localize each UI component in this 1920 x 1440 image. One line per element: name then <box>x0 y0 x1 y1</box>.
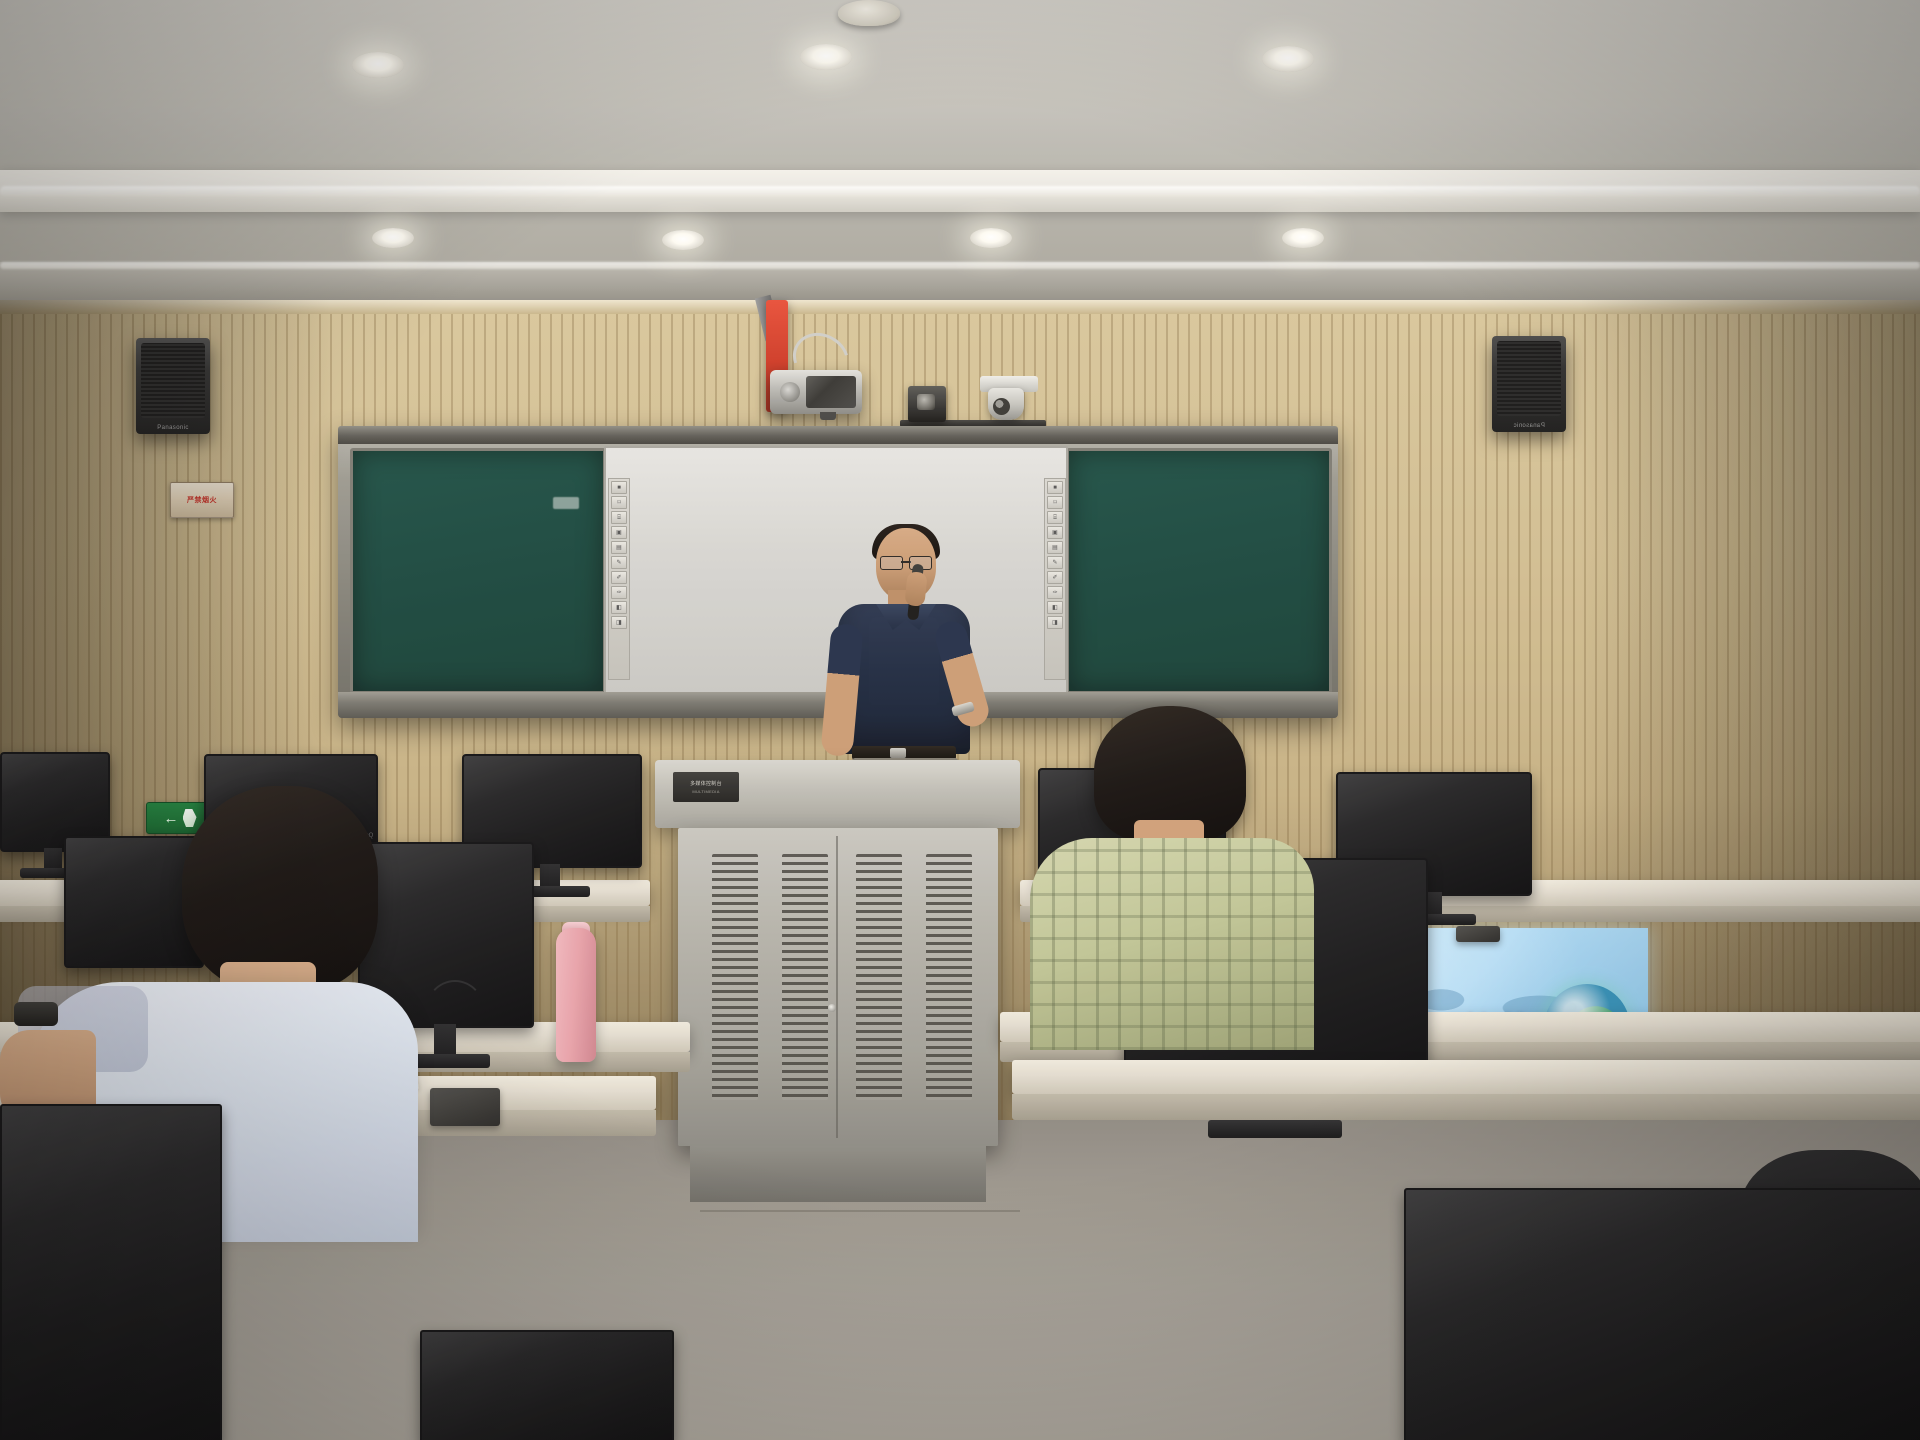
podium-vent <box>712 854 758 1100</box>
whiteboard-tool-button[interactable]: ⌑ <box>611 496 627 509</box>
ptz-dome-camera <box>980 376 1038 424</box>
whiteboard-tool-button[interactable]: ✐ <box>611 571 627 584</box>
podium-door-split <box>836 836 838 1138</box>
podium-cabinet <box>678 828 998 1146</box>
monitor-neck <box>540 864 560 888</box>
whiteboard-tool-button[interactable]: ▣ <box>611 526 627 539</box>
podium-base <box>690 1146 986 1202</box>
chalk-mark <box>553 497 579 509</box>
whiteboard-tool-button[interactable]: ✑ <box>1047 586 1063 599</box>
recessed-downlight <box>372 228 414 248</box>
podium-top: 多媒体控制台 MULTIMEDIA <box>655 760 1020 828</box>
whiteboard-tool-button[interactable]: ◧ <box>611 601 627 614</box>
whiteboard-tool-button[interactable]: ▤ <box>1047 541 1063 554</box>
ceiling <box>0 0 1920 300</box>
ptz-lens-icon <box>993 398 1010 415</box>
whiteboard-tool-button[interactable]: ▣ <box>1047 526 1063 539</box>
whiteboard-tool-button[interactable]: ■ <box>1047 481 1063 494</box>
glasses-icon <box>880 556 932 568</box>
whiteboard-tool-button[interactable]: ■ <box>611 481 627 494</box>
recording-camera <box>908 386 946 422</box>
whiteboard-toolbar-right[interactable]: ■ ⌑ ⌸ ▣ ▤ ✎ ✐ ✑ ◧ ◨ <box>1044 478 1066 680</box>
monitor-screen <box>420 1330 674 1440</box>
recessed-downlight <box>352 52 404 78</box>
student-right <box>1022 706 1322 1036</box>
speaker-grille <box>141 343 205 418</box>
whiteboard-tool-button[interactable]: ⌸ <box>611 511 627 524</box>
podium-vent <box>856 854 902 1100</box>
desk-row-front-right <box>1012 1060 1920 1094</box>
projector-body-detail <box>806 376 856 408</box>
recessed-downlight <box>1282 228 1324 248</box>
monitor-base <box>1208 1120 1342 1138</box>
speaker-brand-label: Panasonic <box>1492 423 1566 429</box>
wristwatch <box>14 1002 58 1026</box>
chalkboard-right <box>1066 448 1332 694</box>
fire-safety-sign: 严禁烟火 <box>170 482 234 518</box>
smartphone-on-desk <box>1456 926 1500 942</box>
recessed-downlight <box>970 228 1012 248</box>
smoke-detector <box>838 0 900 26</box>
cove-light-strip <box>0 186 1920 196</box>
board-top-rail <box>338 426 1338 444</box>
glasses-lens-left <box>880 556 903 570</box>
speaker-brand-label: Panasonic <box>136 425 210 431</box>
recessed-downlight <box>800 44 852 70</box>
belt-buckle <box>890 748 906 758</box>
whiteboard-tool-button[interactable]: ⌸ <box>1047 511 1063 524</box>
monitor-screen <box>0 1104 222 1440</box>
wall-speaker-left: Panasonic <box>136 338 210 434</box>
whiteboard-tool-button[interactable]: ◧ <box>1047 601 1063 614</box>
floor-seam <box>700 1210 1020 1212</box>
smartphone-on-desk <box>430 1088 500 1126</box>
whiteboard-tool-button[interactable]: ✎ <box>1047 556 1063 569</box>
camera-lens-icon <box>917 394 935 410</box>
whiteboard-toolbar-left[interactable]: ■ ⌑ ⌸ ▣ ▤ ✎ ✐ ✑ ◧ ◨ <box>608 478 630 680</box>
whiteboard-tool-button[interactable]: ▤ <box>611 541 627 554</box>
presenter-hand <box>904 571 927 607</box>
projector-foot <box>820 412 836 420</box>
desk-edge <box>1012 1094 1920 1120</box>
whiteboard-tool-button[interactable]: ◨ <box>611 616 627 629</box>
wall-speaker-right: Panasonic <box>1492 336 1566 432</box>
speaker-grille <box>1497 341 1561 416</box>
podium-nameplate: 多媒体控制台 MULTIMEDIA <box>673 772 739 802</box>
whiteboard-tool-button[interactable]: ◨ <box>1047 616 1063 629</box>
cove-light-strip <box>0 262 1920 269</box>
monitor-cable <box>424 980 486 1048</box>
ceiling-projector <box>770 370 862 414</box>
podium-vent <box>926 854 972 1100</box>
whiteboard-tool-button[interactable]: ✎ <box>611 556 627 569</box>
whiteboard-tool-button[interactable]: ⌑ <box>1047 496 1063 509</box>
podium-vent <box>782 854 828 1100</box>
projector-lens-icon <box>780 382 800 402</box>
monitor-screen <box>1404 1188 1920 1440</box>
recessed-downlight <box>1262 46 1314 72</box>
classroom-scene: Panasonic Panasonic 严禁烟火 ← <box>0 0 1920 1440</box>
fire-safety-sign-text: 严禁烟火 <box>187 495 217 505</box>
podium-plate-line2: MULTIMEDIA <box>692 789 719 794</box>
whiteboard-tool-button[interactable]: ✑ <box>611 586 627 599</box>
chalkboard-left <box>350 448 606 694</box>
podium-lock-icon[interactable] <box>828 1004 836 1012</box>
pink-water-bottle <box>556 928 596 1062</box>
podium-plate-line1: 多媒体控制台 <box>690 780 722 787</box>
student-body <box>1030 838 1314 1050</box>
whiteboard-tool-button[interactable]: ✐ <box>1047 571 1063 584</box>
recessed-downlight <box>662 230 704 250</box>
